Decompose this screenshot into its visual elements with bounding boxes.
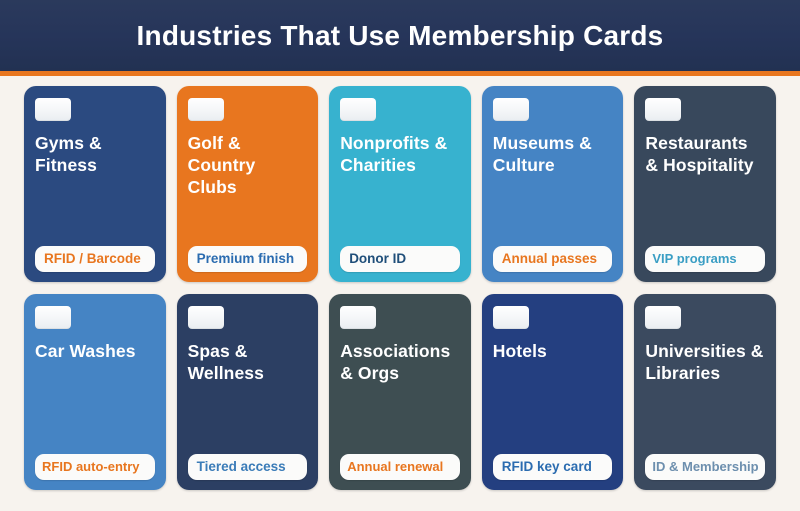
industry-card-grid: Gyms & Fitness RFID / Barcode Golf & Cou… [24, 86, 776, 490]
card-spacer [645, 176, 765, 246]
card-tag-badge: RFID auto-entry [35, 454, 155, 480]
card-title: Hotels [493, 340, 613, 362]
card-chip-icon [645, 306, 681, 329]
card-spacer [340, 176, 460, 246]
card-tag-badge: Donor ID [340, 246, 460, 272]
industry-card-car-washes[interactable]: Car Washes RFID auto-entry [24, 294, 166, 490]
card-chip-icon [645, 98, 681, 121]
card-spacer [188, 384, 308, 454]
card-title: Car Washes [35, 340, 155, 362]
card-tag-badge: Annual passes [493, 246, 613, 272]
card-chip-icon [188, 306, 224, 329]
card-tag-badge: Annual renewal [340, 454, 460, 480]
card-title: Nonprofits & Charities [340, 132, 460, 176]
card-chip-icon [35, 98, 71, 121]
card-title: Associations & Orgs [340, 340, 460, 384]
card-spacer [493, 362, 613, 454]
card-tag-badge: Premium finish [188, 246, 308, 272]
card-chip-icon [340, 98, 376, 121]
card-tag-badge: RFID / Barcode [35, 246, 155, 272]
industry-card-restaurants-hospitality[interactable]: Restaurants & Hospitality VIP programs [634, 86, 776, 282]
card-chip-icon [35, 306, 71, 329]
card-row-2: Car Washes RFID auto-entry Spas & Wellne… [24, 294, 776, 490]
card-spacer [645, 384, 765, 454]
header-accent-bar [0, 71, 800, 76]
industry-card-universities-libraries[interactable]: Universities & Libraries ID & Membership [634, 294, 776, 490]
card-chip-icon [188, 98, 224, 121]
card-chip-icon [493, 306, 529, 329]
infographic-page: Industries That Use Membership Cards Gym… [0, 0, 800, 511]
card-tag-badge: ID & Membership [645, 454, 765, 480]
card-tag-badge: Tiered access [188, 454, 308, 480]
industry-card-golf-country-clubs[interactable]: Golf & Country Clubs Premium finish [177, 86, 319, 282]
card-tag-badge: RFID key card [493, 454, 613, 480]
industry-card-associations-orgs[interactable]: Associations & Orgs Annual renewal [329, 294, 471, 490]
page-title: Industries That Use Membership Cards [137, 22, 664, 50]
card-title: Restaurants & Hospitality [645, 132, 765, 176]
card-spacer [340, 384, 460, 454]
card-title: Golf & Country Clubs [188, 132, 308, 198]
industry-card-nonprofits-charities[interactable]: Nonprofits & Charities Donor ID [329, 86, 471, 282]
card-title: Gyms & Fitness [35, 132, 155, 176]
card-spacer [35, 176, 155, 246]
industry-card-hotels[interactable]: Hotels RFID key card [482, 294, 624, 490]
card-spacer [493, 176, 613, 246]
card-title: Museums & Culture [493, 132, 613, 176]
industry-card-museums-culture[interactable]: Museums & Culture Annual passes [482, 86, 624, 282]
industry-card-spas-wellness[interactable]: Spas & Wellness Tiered access [177, 294, 319, 490]
card-chip-icon [493, 98, 529, 121]
card-chip-icon [340, 306, 376, 329]
industry-card-gyms-fitness[interactable]: Gyms & Fitness RFID / Barcode [24, 86, 166, 282]
card-row-1: Gyms & Fitness RFID / Barcode Golf & Cou… [24, 86, 776, 282]
card-tag-badge: VIP programs [645, 246, 765, 272]
card-spacer [35, 362, 155, 454]
page-header: Industries That Use Membership Cards [0, 0, 800, 71]
card-title: Spas & Wellness [188, 340, 308, 384]
card-spacer [188, 198, 308, 246]
card-title: Universities & Libraries [645, 340, 765, 384]
